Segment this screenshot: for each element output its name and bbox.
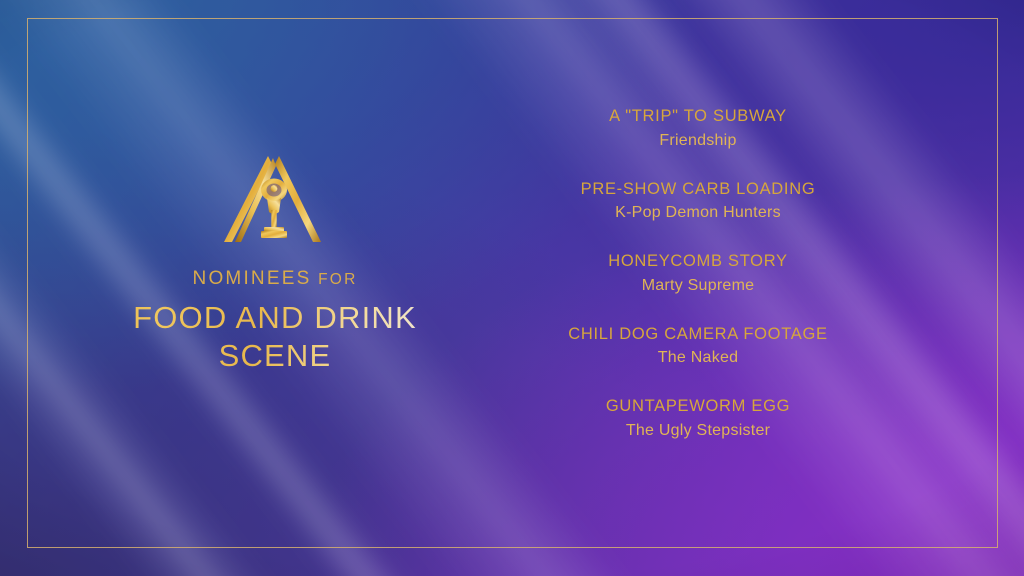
nominee-work: Marty Supreme xyxy=(538,274,858,299)
nominee-list: A "TRIP" TO SUBWAY Friendship PRE-SHOW C… xyxy=(538,104,858,444)
nominee-title: GUNTAPEWORM EGG xyxy=(538,394,858,419)
kicker-primary: NOMINEES xyxy=(193,268,312,289)
nominees-for-kicker: NOMINEES FOR xyxy=(30,268,520,290)
kicker-secondary: FOR xyxy=(318,271,357,288)
nominee-work: K-Pop Demon Hunters xyxy=(538,201,858,226)
nominee-title: PRE-SHOW CARB LOADING xyxy=(538,177,858,202)
category-title-line-1: FOOD AND DRINK xyxy=(30,299,520,337)
category-title-line-2: SCENE xyxy=(30,337,520,375)
list-item: CHILI DOG CAMERA FOOTAGE The Naked xyxy=(538,322,858,372)
list-item: HONEYCOMB STORY Marty Supreme xyxy=(538,249,858,299)
nominee-work: Friendship xyxy=(538,129,858,154)
list-item: GUNTAPEWORM EGG The Ugly Stepsister xyxy=(538,394,858,444)
category-title: FOOD AND DRINK SCENE xyxy=(30,299,520,374)
award-nominee-slide: NOMINEES FOR FOOD AND DRINK SCENE A "TRI… xyxy=(0,0,1024,576)
list-item: PRE-SHOW CARB LOADING K-Pop Demon Hunter… xyxy=(538,177,858,227)
award-trophy-chevron-emblem xyxy=(207,150,343,250)
list-item: A "TRIP" TO SUBWAY Friendship xyxy=(538,104,858,154)
category-panel: NOMINEES FOR FOOD AND DRINK SCENE xyxy=(30,150,520,374)
nominee-work: The Ugly Stepsister xyxy=(538,419,858,444)
nominee-work: The Naked xyxy=(538,346,858,371)
nominee-title: CHILI DOG CAMERA FOOTAGE xyxy=(538,322,858,347)
nominee-title: A "TRIP" TO SUBWAY xyxy=(538,104,858,129)
nominee-title: HONEYCOMB STORY xyxy=(538,249,858,274)
